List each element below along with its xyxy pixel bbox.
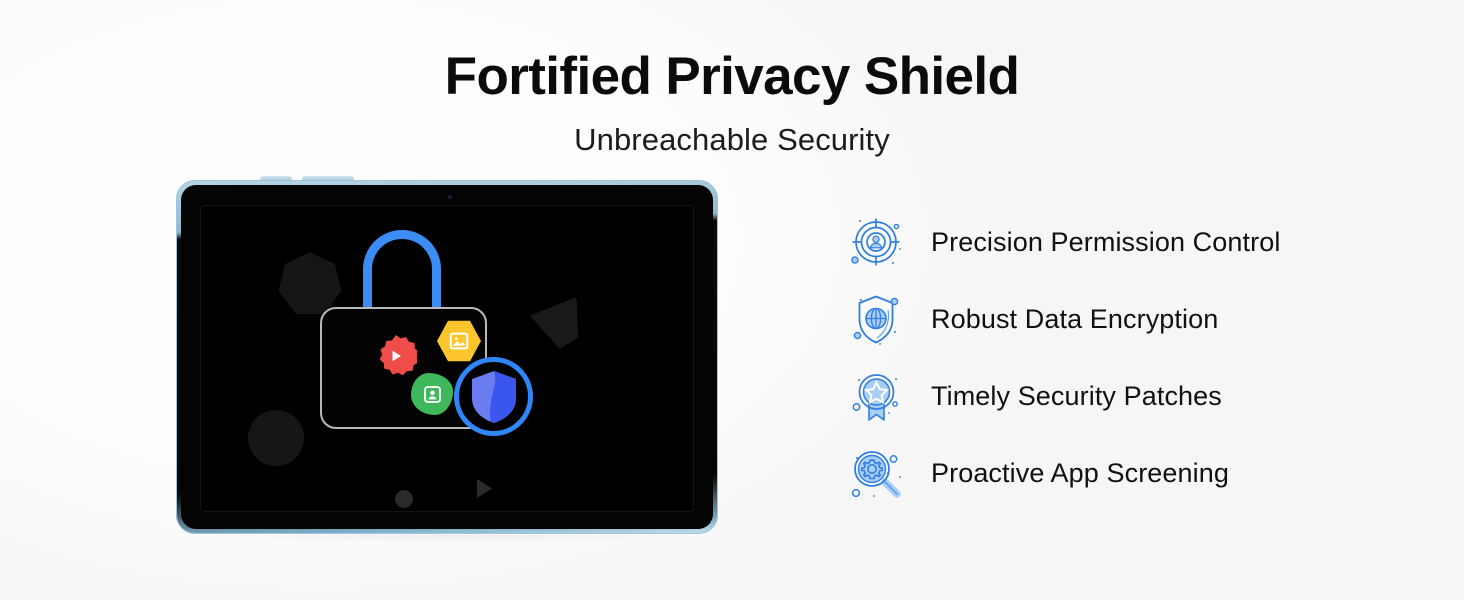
feature-item-proactive-app-screening[interactable]: Proactive App Screening [846,435,1406,512]
page-subtitle: Unbreachable Security [0,121,1464,158]
target-person-icon [846,212,908,274]
shield-globe-icon [846,289,908,351]
decorative-circle-shape [248,410,304,466]
feature-label: Proactive App Screening [931,457,1229,489]
medal-star-icon [846,366,908,428]
feature-label: Precision Permission Control [931,226,1280,258]
heading-block: Fortified Privacy Shield Unbreachable Se… [0,46,1464,158]
decorative-triangle-shape [530,297,578,349]
contacts-app-icon[interactable] [411,373,453,415]
privacy-shield-banner: Fortified Privacy Shield Unbreachable Se… [0,0,1464,600]
security-shield-badge[interactable] [454,357,533,436]
decorative-small-triangle-shape [477,479,492,498]
gallery-app-icon[interactable] [437,319,481,363]
front-camera-dot [448,195,452,199]
tablet-device [176,180,718,534]
tablet-screen[interactable] [200,205,694,512]
contact-card-icon [422,384,443,405]
decorative-dot-shape [395,490,413,508]
video-app-icon[interactable] [375,335,417,377]
magnifier-gear-icon [846,443,908,505]
tablet-body [176,180,718,534]
feature-item-timely-security-patches[interactable]: Timely Security Patches [846,358,1406,435]
feature-label: Timely Security Patches [931,380,1222,412]
page-title: Fortified Privacy Shield [0,46,1464,109]
image-icon [448,330,470,352]
shield-icon [470,370,518,424]
feature-list: Precision Permission Control [846,204,1406,512]
feature-item-robust-data-encryption[interactable]: Robust Data Encryption [846,281,1406,358]
play-icon [388,348,404,364]
feature-label: Robust Data Encryption [931,303,1218,335]
padlock-shackle-icon [363,230,441,316]
feature-item-precision-permission-control[interactable]: Precision Permission Control [846,204,1406,281]
